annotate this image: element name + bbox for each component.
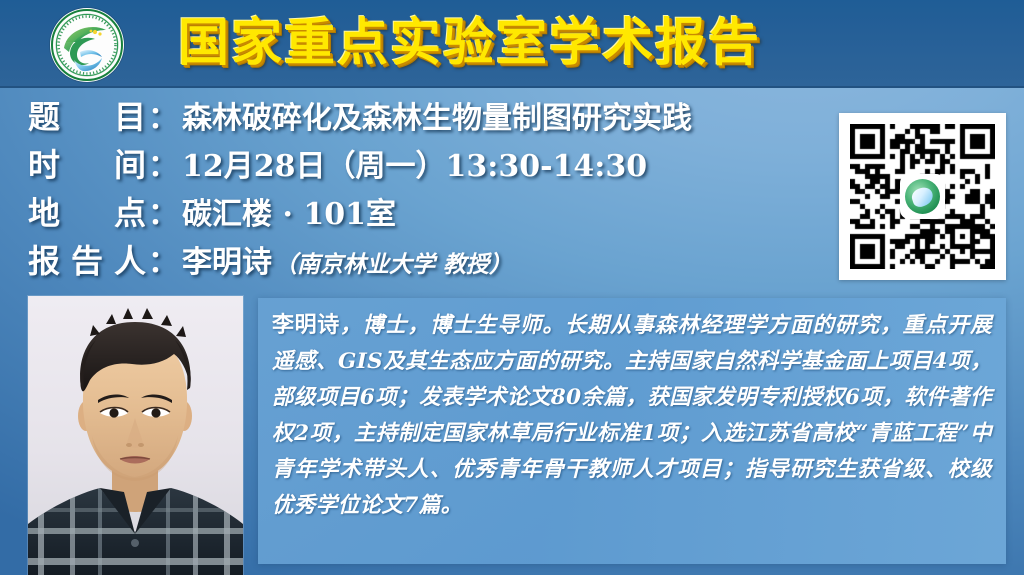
seminar-poster: 国家重点实验室学术报告 题目 ： 森林破碎化及森林生物量制图研究实践 时间 ： … [0, 0, 1024, 575]
info-value-speaker-affiliation: （南京林业大学 教授） [272, 245, 512, 279]
info-row-location: 地点 ： 碳汇楼 · 101室 [28, 188, 838, 236]
bio-body: ，博士，博士生导师。长期从事森林经理学方面的研究，重点开展遥感、GIS及其生态应… [272, 313, 992, 518]
info-label-speaker: 报告人 [28, 236, 146, 282]
info-value-location: 碳汇楼 · 101室 [182, 189, 396, 233]
emblem-artwork-icon [50, 8, 124, 82]
colon-speaker: ： [146, 237, 182, 281]
info-label-topic: 题目 [28, 92, 146, 138]
state-key-lab-emblem-icon [50, 8, 124, 82]
page-title: 国家重点实验室学术报告 [178, 8, 761, 80]
speaker-bio-text: 李明诗，博士，博士生导师。长期从事森林经理学方面的研究，重点开展遥感、GIS及其… [272, 308, 992, 524]
info-value-topic: 森林破碎化及森林生物量制图研究实践 [182, 93, 692, 137]
info-row-topic: 题目 ： 森林破碎化及森林生物量制图研究实践 [28, 92, 838, 140]
qr-center-emblem-icon [900, 174, 945, 219]
header-band: 国家重点实验室学术报告 [0, 0, 1024, 88]
speaker-bio-panel: 李明诗，博士，博士生导师。长期从事森林经理学方面的研究，重点开展遥感、GIS及其… [258, 298, 1006, 564]
info-label-location: 地点 [28, 188, 146, 234]
info-value-speaker: 李明诗 [182, 237, 272, 281]
speaker-portrait [28, 296, 243, 575]
info-label-time: 时间 [28, 140, 146, 186]
colon-topic: ： [146, 93, 182, 137]
qr-emblem-dot [905, 179, 940, 214]
portrait-artwork-icon [28, 296, 243, 575]
wechat-qr-code[interactable] [839, 113, 1006, 280]
info-value-time: 12月28日（周一）13:30-14:30 [182, 141, 647, 185]
info-row-time: 时间 ： 12月28日（周一）13:30-14:30 [28, 140, 838, 188]
colon-time: ： [146, 141, 182, 185]
colon-location: ： [146, 189, 182, 233]
seminar-info-block: 题目 ： 森林破碎化及森林生物量制图研究实践 时间 ： 12月28日（周一）13… [28, 92, 838, 284]
bio-name-highlight: 李明诗 [272, 313, 340, 338]
info-row-speaker: 报告人 ： 李明诗 （南京林业大学 教授） [28, 236, 838, 284]
